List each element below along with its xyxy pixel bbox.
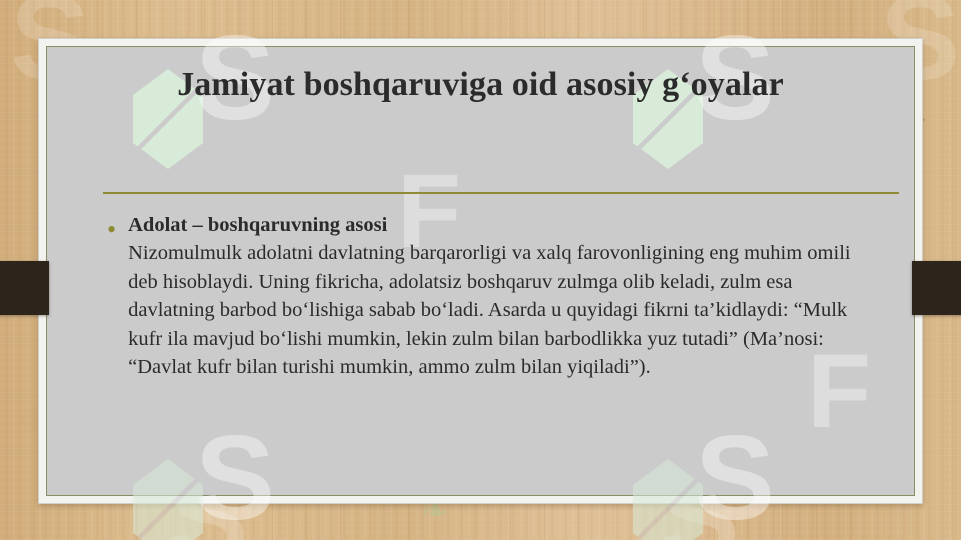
slide-content: Jamiyat boshqaruviga oid asosiy g‘oyalar…	[47, 47, 914, 495]
bullet-paragraph: Nizomulmulk adolatni davlatning barqaror…	[128, 239, 858, 381]
bullet-list-item: • Adolat – boshqaruvning asosi Nizomulmu…	[107, 211, 887, 381]
bullet-heading: Adolat – boshqaruvning asosi	[128, 211, 858, 239]
bullet-marker-icon: •	[107, 217, 116, 243]
slide-frame: S S S S F F Jamiyat boshqaruviga oid aso…	[38, 38, 923, 504]
slide-surface: S S S S F F Jamiyat boshqaruviga oid aso…	[46, 46, 915, 496]
slide-decoration-tab-left	[0, 261, 49, 315]
slide-title: Jamiyat boshqaruviga oid asosiy g‘oyalar	[47, 47, 914, 107]
bullet-text: Adolat – boshqaruvning asosi Nizomulmulk…	[128, 211, 858, 381]
slide-decoration-tab-right	[912, 261, 961, 315]
title-divider	[103, 192, 899, 194]
